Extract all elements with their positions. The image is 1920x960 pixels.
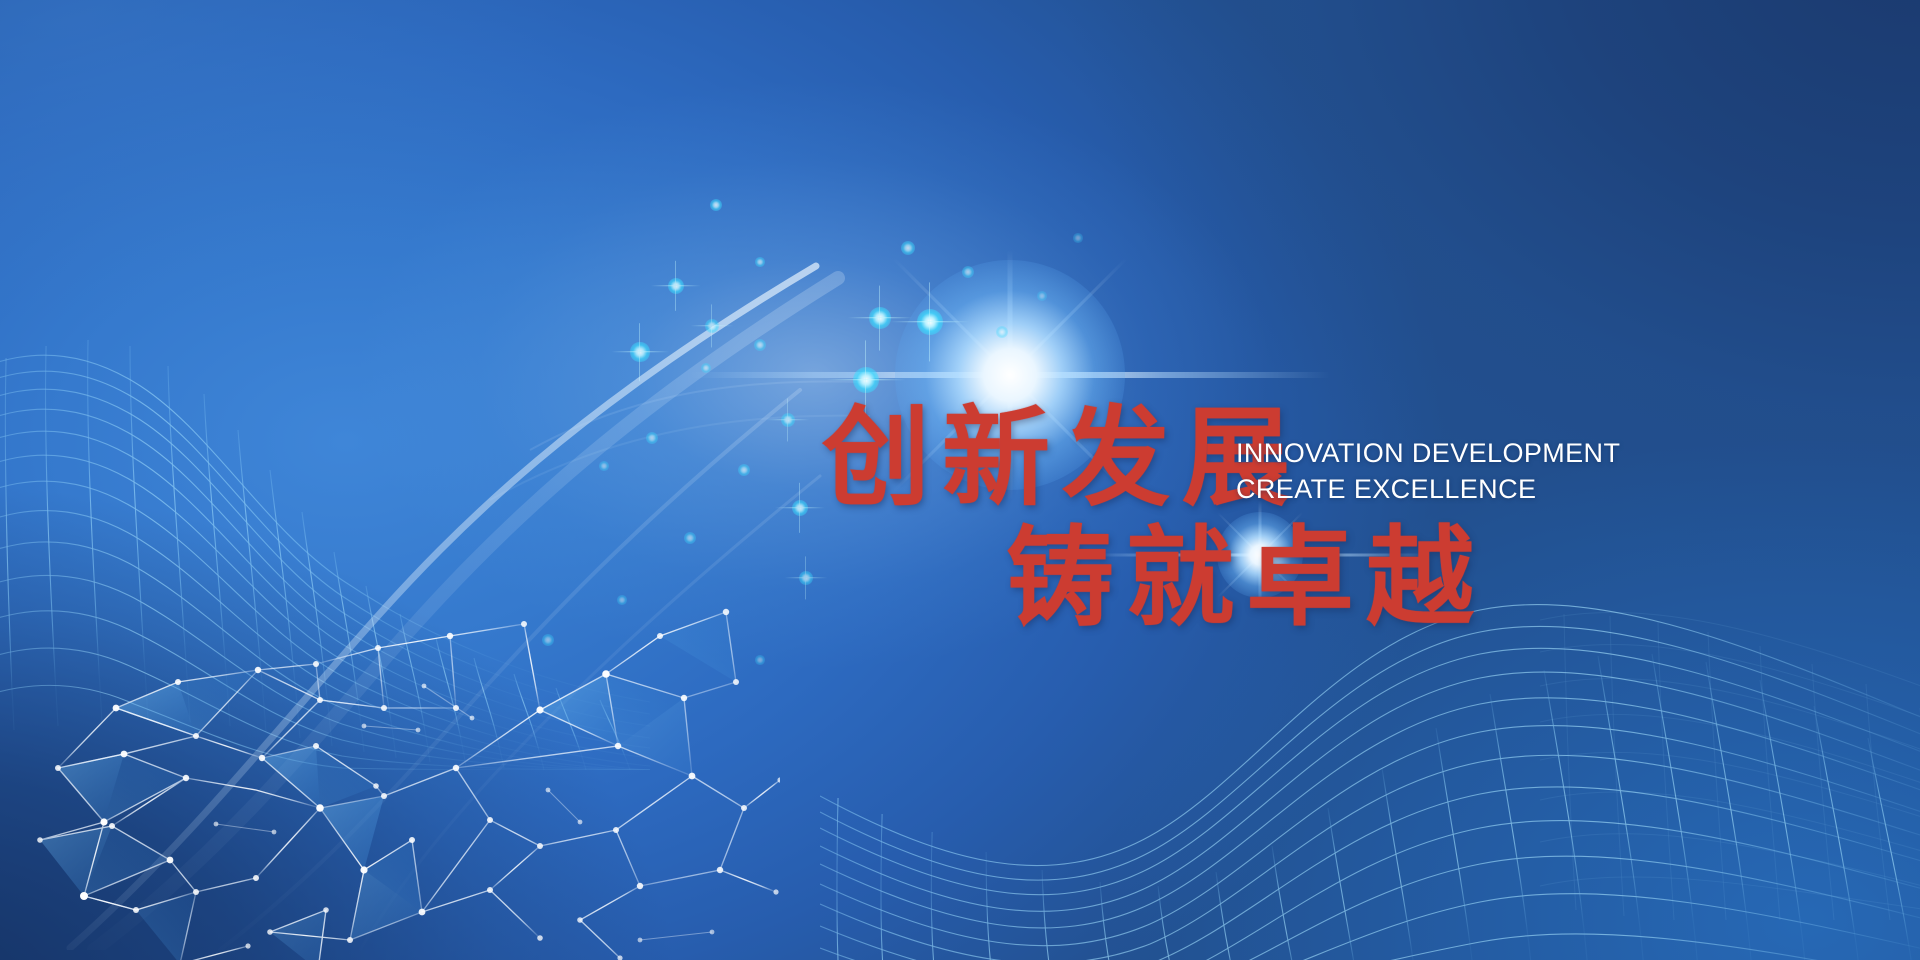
- tech-culture-banner: 创新发展 铸就卓越 INNOVATION DEVELOPMENT CREATE …: [0, 0, 1920, 960]
- headline-english-line-1: INNOVATION DEVELOPMENT: [1236, 440, 1620, 467]
- headline-english-line-2: CREATE EXCELLENCE: [1236, 476, 1536, 503]
- headline-block: 创新发展 铸就卓越 INNOVATION DEVELOPMENT CREATE …: [0, 0, 1920, 960]
- headline-chinese-line-1: 创新发展: [822, 404, 1302, 512]
- headline-chinese-line-2: 铸就卓越: [1006, 524, 1486, 632]
